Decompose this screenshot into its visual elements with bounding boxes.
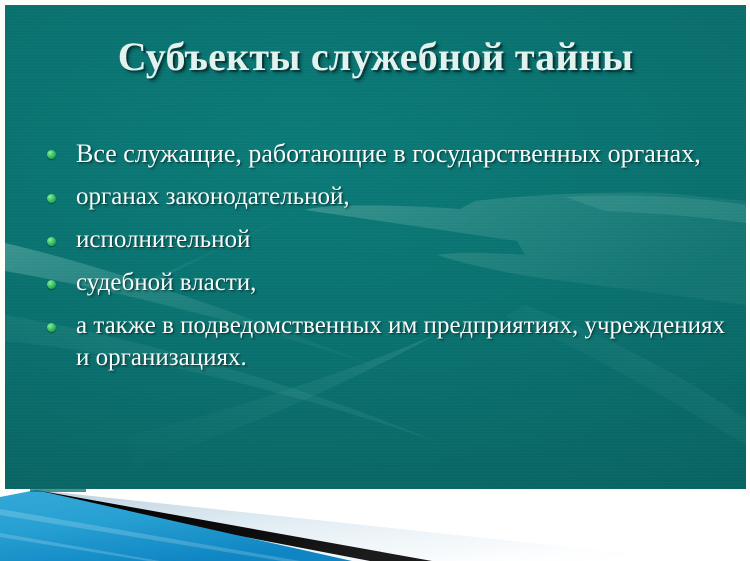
presentation-slide: Субъекты служебной тайны Все служащие, р… — [0, 0, 750, 561]
list-item-text: Все служащие, работающие в государственн… — [76, 137, 737, 170]
bullet-dot-icon — [47, 280, 56, 289]
footer-teal-nub — [30, 489, 86, 492]
list-item-text: судебной власти, — [76, 267, 737, 299]
list-item-text: органах законодательной, — [76, 181, 737, 213]
slide-content-panel: Субъекты служебной тайны Все служащие, р… — [5, 5, 746, 489]
list-item: органах законодательной, — [47, 181, 737, 213]
list-item-text: исполнительной — [76, 224, 737, 256]
slide-title: Субъекты служебной тайны — [5, 33, 746, 80]
bullet-dot-icon — [47, 150, 56, 159]
list-item: а также в подведомственных им предприяти… — [47, 310, 737, 374]
list-item: Все служащие, работающие в государственн… — [47, 137, 737, 170]
list-item-text: а также в подведомственных им предприяти… — [76, 310, 737, 374]
slide-footer-decoration — [0, 489, 750, 561]
bullet-dot-icon — [47, 237, 56, 246]
bullet-list: Все служащие, работающие в государственн… — [47, 137, 737, 385]
slide-frame-right-edge — [746, 0, 750, 489]
list-item: судебной власти, — [47, 267, 737, 299]
slide-frame-top-edge — [0, 0, 750, 5]
bullet-dot-icon — [47, 323, 56, 332]
slide-frame-left-edge — [0, 0, 5, 489]
bullet-dot-icon — [47, 194, 56, 203]
list-item: исполнительной — [47, 224, 737, 256]
